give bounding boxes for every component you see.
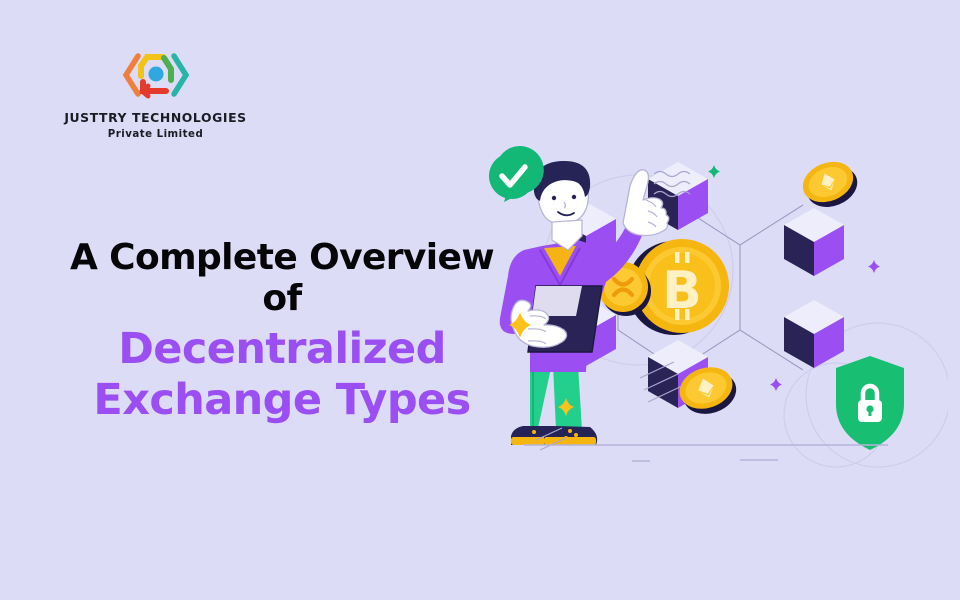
brand-subtitle: Private Limited [108,129,204,140]
ethereum-coin-top [797,154,864,215]
headline-line-2: Decentralized [62,325,502,374]
hexagon-swirl-logo-icon [118,46,194,104]
brand-logo[interactable]: JUSTTRY TECHNOLOGIES Private Limited [68,46,243,140]
headline-line-3: Exchange Types [62,376,502,425]
shield-lock-icon [836,356,904,450]
banner-canvas: JUSTTRY TECHNOLOGIES Private Limited A C… [0,0,960,600]
svg-text:B: B [662,261,702,321]
decentralized-exchange-illustration: B [478,140,948,490]
headline-line-1: A Complete Overview of [62,238,502,319]
blockchain-cube-lower-right [784,300,844,368]
blockchain-cube-upper-right [784,208,844,276]
page-title: A Complete Overview of Decentralized Exc… [62,238,502,425]
sparkle-green [708,165,720,178]
brand-name: JUSTTRY TECHNOLOGIES [64,110,246,125]
